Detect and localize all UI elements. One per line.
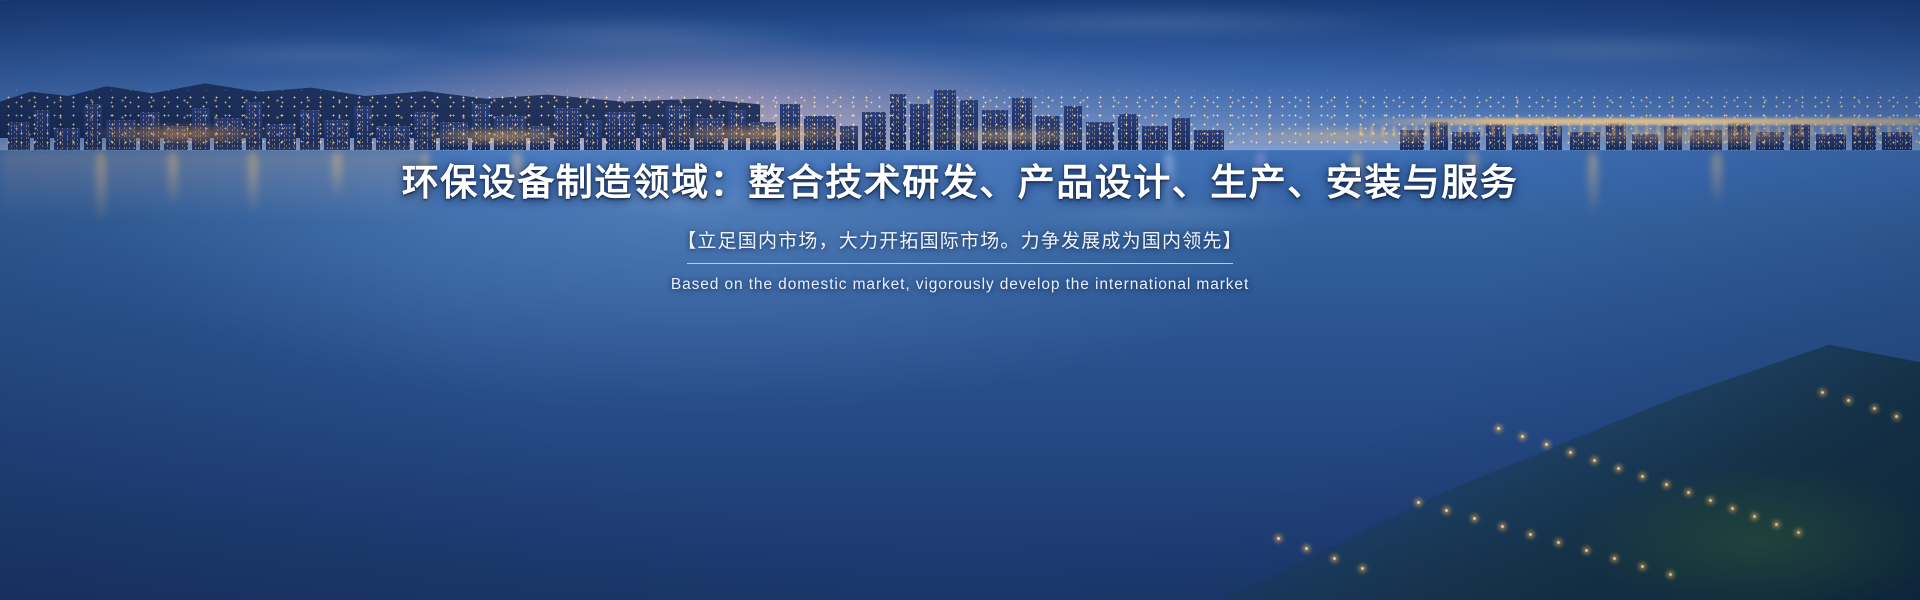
banner-subtitle-chinese: 【立足国内市场，大力开拓国际市场。力争发展成为国内领先】 — [677, 226, 1243, 253]
hero-banner: 环保设备制造领域：整合技术研发、产品设计、生产、安装与服务 【立足国内市场，大力… — [0, 0, 1920, 600]
banner-title: 环保设备制造领域：整合技术研发、产品设计、生产、安装与服务 — [402, 160, 1519, 206]
subtitle-divider — [687, 263, 1233, 264]
banner-subtitle-english: Based on the domestic market, vigorously… — [671, 276, 1249, 294]
hero-copy-block: 环保设备制造领域：整合技术研发、产品设计、生产、安装与服务 【立足国内市场，大力… — [0, 0, 1920, 600]
